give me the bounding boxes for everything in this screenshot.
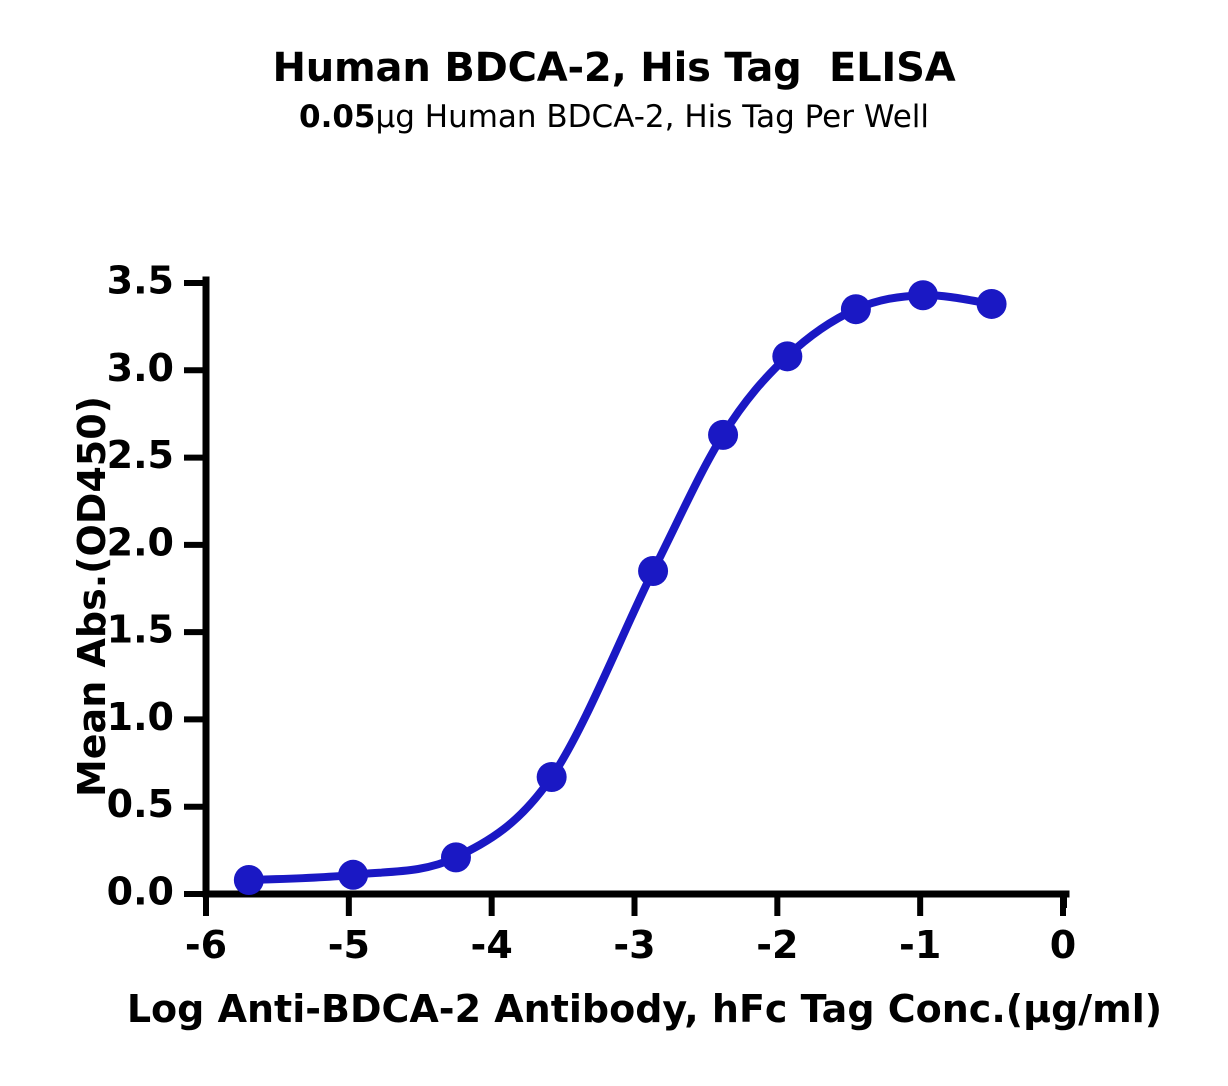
x-tick-label: -3 [613,923,655,967]
x-axis-title: Log Anti-BDCA-2 Antibody, hFc Tag Conc.(… [127,987,1162,1031]
data-point-marker [977,289,1007,319]
x-tick-label: -6 [185,923,227,967]
series-line [249,295,992,880]
axes [184,280,1066,916]
data-series [234,280,1007,895]
data-point-marker [441,842,471,872]
data-point-marker [234,865,264,895]
data-point-marker [841,294,871,324]
data-point-marker [338,860,368,890]
data-point-marker [537,762,567,792]
x-tick-label: -1 [899,923,941,967]
x-tick-label: -2 [756,923,798,967]
y-tick-label: 3.5 [107,259,174,303]
chart-page: Human BDCA-2, His Tag ELISA 0.05µg Human… [0,0,1228,1086]
data-point-marker [908,280,938,310]
x-tick-label: 0 [1050,923,1076,967]
y-tick-label: 0.5 [107,782,174,826]
data-point-marker [638,556,668,586]
y-tick-label: 1.5 [107,608,174,652]
y-tick-label: 2.5 [107,433,174,477]
y-tick-label: 0.0 [107,870,174,914]
x-tick-label: -4 [471,923,513,967]
data-point-marker [772,341,802,371]
y-axis-title: Mean Abs.(OD450) [70,396,114,797]
chart-svg: 0.00.51.01.52.02.53.03.5-6-5-4-3-2-10Log… [0,0,1228,1086]
x-tick-label: -5 [328,923,370,967]
y-tick-label: 2.0 [107,520,174,564]
y-tick-label: 3.0 [107,346,174,390]
plot-area: 0.00.51.01.52.02.53.03.5-6-5-4-3-2-10Log… [0,0,1228,1086]
y-tick-label: 1.0 [107,695,174,739]
data-point-marker [708,420,738,450]
